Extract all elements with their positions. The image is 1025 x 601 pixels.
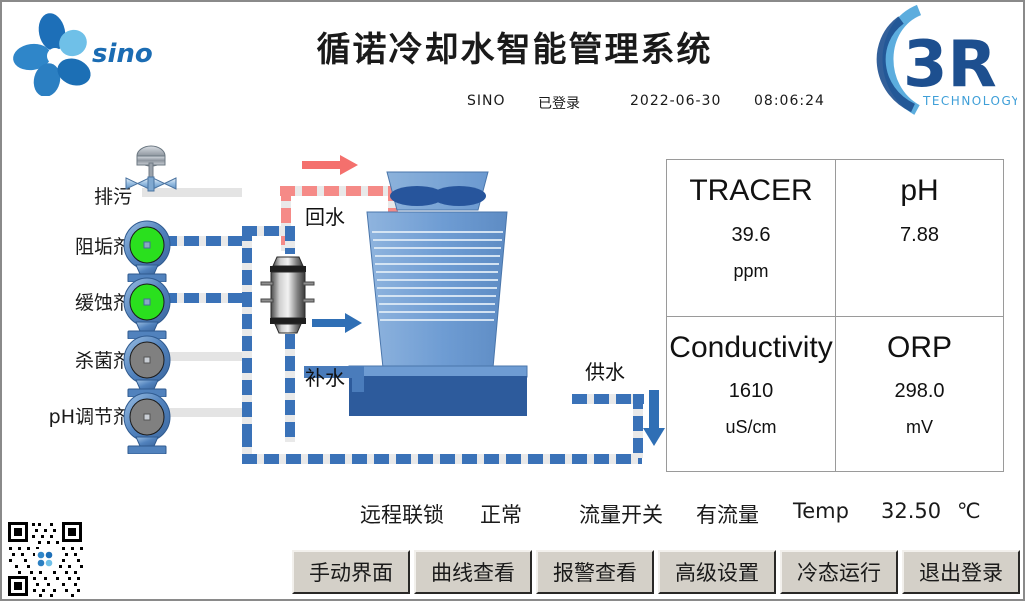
- measurement-cell-orp[interactable]: ORP 298.0 mV: [835, 316, 1003, 472]
- measurement-unit: mV: [906, 417, 933, 438]
- measurement-cell-ph[interactable]: pH 7.88: [835, 160, 1003, 316]
- chem-label-ph-adjuster: pH调节剂: [12, 402, 132, 429]
- measurement-name: Conductivity: [669, 329, 832, 367]
- pump-biocide[interactable]: [118, 335, 176, 397]
- pipe-makeup-stub-v: [352, 366, 364, 392]
- pipe-bottom-run: [242, 454, 642, 464]
- label-return-water: 回水: [305, 201, 345, 230]
- cold-start-button[interactable]: 冷态运行: [780, 550, 898, 594]
- chem-label-biocide: 杀菌剂: [22, 346, 132, 373]
- temp-unit: ℃: [957, 499, 981, 523]
- pump-corrosion-inhibitor[interactable]: [118, 277, 176, 339]
- remote-interlock-label: 远程联锁: [360, 499, 444, 529]
- qr-code: [6, 520, 84, 598]
- flow-switch-label: 流量开关: [579, 499, 663, 529]
- temp-value: 32.50: [881, 499, 941, 523]
- measurement-value: 39.6: [732, 224, 771, 247]
- manual-interface-button[interactable]: 手动界面: [292, 550, 410, 594]
- temp-label: Temp: [793, 499, 849, 523]
- alarm-view-button[interactable]: 报警查看: [536, 550, 654, 594]
- advanced-settings-button[interactable]: 高级设置: [658, 550, 776, 594]
- blowdown-valve-icon[interactable]: [120, 145, 182, 203]
- status-user: SINO: [467, 93, 506, 109]
- measurement-cell-conductivity[interactable]: Conductivity 1610 uS/cm: [667, 316, 835, 472]
- flow-switch-value: 有流量: [696, 499, 759, 529]
- analyzer-vessel-icon[interactable]: [260, 254, 316, 336]
- trend-curve-button[interactable]: 曲线查看: [414, 550, 532, 594]
- pipe-analyzer-outlet: [285, 334, 295, 442]
- pump-antiscalant[interactable]: [118, 220, 176, 282]
- measurement-name: TRACER: [689, 172, 812, 210]
- measurement-value: 7.88: [900, 224, 939, 247]
- pipe-analyzer-inlet: [285, 226, 295, 254]
- measurement-name: ORP: [887, 329, 952, 367]
- logout-button[interactable]: 退出登录: [902, 550, 1020, 594]
- button-bar: 手动界面 曲线查看 报警查看 高级设置 冷态运行 退出登录: [292, 550, 1020, 594]
- pipe-bottom-left-riser: [242, 432, 252, 464]
- 3r-logo-subtext: TECHNOLOGY: [922, 94, 1017, 108]
- chem-label-corrosion-inhibitor: 缓蚀剂: [22, 288, 132, 315]
- status-time: 08:06:24: [754, 93, 825, 109]
- measurement-unit: uS/cm: [725, 417, 776, 438]
- status-login-state: 已登录: [538, 93, 580, 113]
- measurement-cell-tracer[interactable]: TRACER 39.6 ppm: [667, 160, 835, 316]
- pump-ph-adjuster[interactable]: [118, 392, 176, 454]
- hmi-screen: sino 3R TECHNOLOGY 循诺冷却水智能管理系统 SINO 已登录 …: [0, 0, 1025, 601]
- measurement-panel: TRACER 39.6 ppm pH 7.88 Conductivity 161…: [666, 159, 1004, 472]
- pipe-header-vertical: [242, 226, 252, 441]
- measurement-unit: ppm: [733, 261, 768, 282]
- supply-flow-arrow-icon: [642, 390, 666, 451]
- bottom-status-bar: 远程联锁 正常 流量开关 有流量 Temp 32.50 ℃: [2, 499, 1025, 529]
- chem-label-blowdown: 排污: [22, 182, 132, 209]
- measurement-name: pH: [900, 172, 938, 210]
- label-makeup-water: 补水: [305, 362, 345, 391]
- measurement-value: 298.0: [894, 380, 944, 403]
- measurement-value: 1610: [729, 380, 774, 403]
- status-date: 2022-06-30: [630, 93, 721, 109]
- label-supply-water: 供水: [585, 356, 625, 385]
- chem-label-antiscalant: 阻垢剂: [22, 232, 132, 259]
- remote-interlock-value: 正常: [480, 499, 522, 529]
- page-title: 循诺冷却水智能管理系统: [2, 22, 1025, 71]
